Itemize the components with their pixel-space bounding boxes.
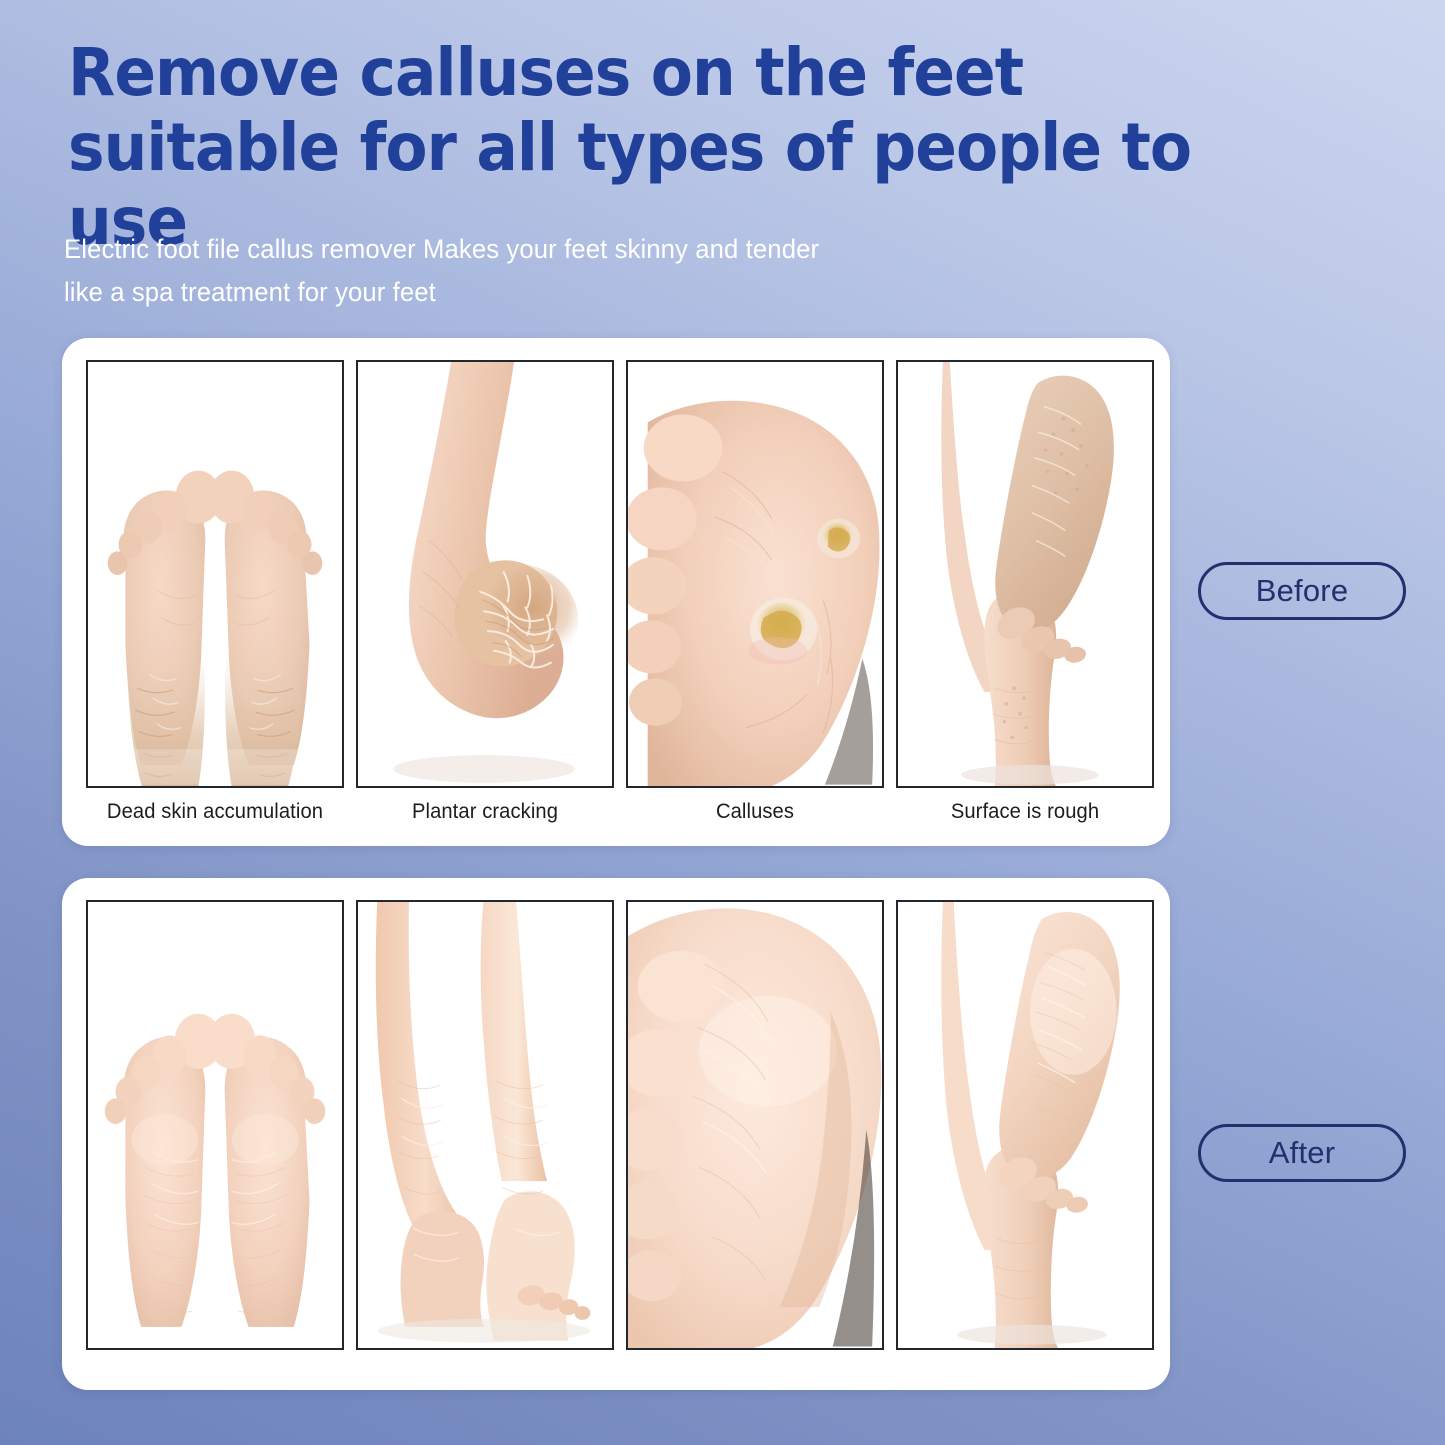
rough-sole-standing-photo <box>898 362 1152 786</box>
status-badge-after: After <box>1198 1124 1406 1182</box>
product-infographic: Remove calluses on the feet suitable for… <box>0 0 1445 1445</box>
before-card: Dead skin accumulation Plantar cracking … <box>62 338 1170 846</box>
subtitle-line-2: like a spa treatment for your feet <box>64 277 436 307</box>
after-panel-3 <box>626 900 884 1350</box>
after-panel-4 <box>896 900 1154 1350</box>
before-panel-2 <box>356 360 614 788</box>
page-title: Remove calluses on the feet suitable for… <box>68 36 1268 260</box>
caption-calluses: Calluses <box>631 800 879 824</box>
smooth-sole-standing-photo <box>898 902 1152 1348</box>
callused-sole-photo <box>628 362 882 786</box>
smooth-forefoot-closeup-photo <box>628 902 882 1348</box>
before-panel-1 <box>86 360 344 788</box>
page-subtitle: Electric foot file callus remover Makes … <box>64 228 1044 314</box>
subtitle-line-1: Electric foot file callus remover Makes … <box>64 234 819 264</box>
after-panel-1 <box>86 900 344 1350</box>
dead-skin-soles-photo <box>88 362 342 786</box>
before-captions: Dead skin accumulation Plantar cracking … <box>86 800 1146 824</box>
badge-after-label: After <box>1269 1135 1335 1171</box>
after-panel-2 <box>356 900 614 1350</box>
status-badge-before: Before <box>1198 562 1406 620</box>
before-panel-4 <box>896 360 1154 788</box>
headline-line-1: Remove calluses on the feet <box>68 34 1023 111</box>
caption-surface-rough: Surface is rough <box>901 800 1149 824</box>
badge-before-label: Before <box>1256 573 1349 609</box>
after-image-strip <box>86 900 1154 1350</box>
before-image-strip <box>86 360 1154 788</box>
caption-dead-skin: Dead skin accumulation <box>91 800 339 824</box>
after-card <box>62 878 1170 1390</box>
caption-plantar-cracking: Plantar cracking <box>361 800 609 824</box>
before-panel-3 <box>626 360 884 788</box>
smooth-soles-photo <box>88 902 342 1348</box>
smooth-heels-standing-photo <box>358 902 612 1348</box>
cracked-heel-photo <box>358 362 612 786</box>
